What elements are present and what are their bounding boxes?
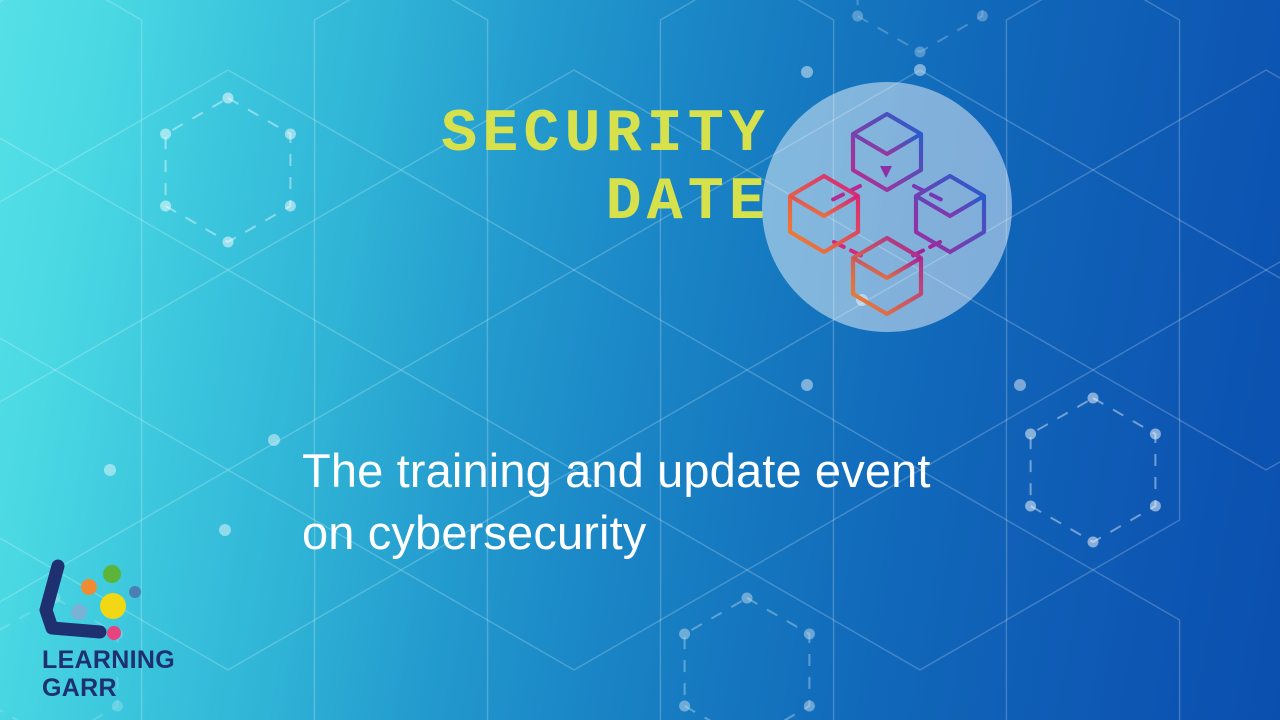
dot-yellow xyxy=(100,593,126,619)
learning-garr-logo: LEARNING GARR xyxy=(38,558,228,703)
dot-lightblue xyxy=(71,604,87,620)
slide-canvas: SECURITY DATE xyxy=(0,0,1280,720)
garr-l-mark-icon xyxy=(38,558,188,648)
dot-green xyxy=(103,565,121,583)
dot-blue-small xyxy=(129,586,141,598)
title-line-security: SECURITY xyxy=(300,106,770,164)
garr-wordmark: LEARNING GARR xyxy=(42,646,175,702)
subtitle-line-1: The training and update event xyxy=(302,440,1062,502)
title-line-date: DATE xyxy=(300,174,770,232)
subtitle-line-2: on cybersecurity xyxy=(302,502,1062,564)
cube-top xyxy=(853,114,921,190)
blockchain-cubes-icon xyxy=(762,82,1012,332)
emblem xyxy=(762,82,1012,332)
slide-subtitle: The training and update event on cyberse… xyxy=(302,440,1062,564)
cube-right xyxy=(916,176,984,252)
cube-left xyxy=(790,176,858,252)
dot-pink xyxy=(107,626,121,640)
garr-l-stroke xyxy=(46,566,100,632)
slide-title: SECURITY DATE xyxy=(300,106,770,232)
cube-bottom xyxy=(853,238,921,314)
garr-wordmark-line-2: GARR xyxy=(42,674,175,702)
dot-orange xyxy=(81,579,97,595)
garr-wordmark-line-1: LEARNING xyxy=(42,646,175,674)
cube-connectors xyxy=(832,186,942,256)
